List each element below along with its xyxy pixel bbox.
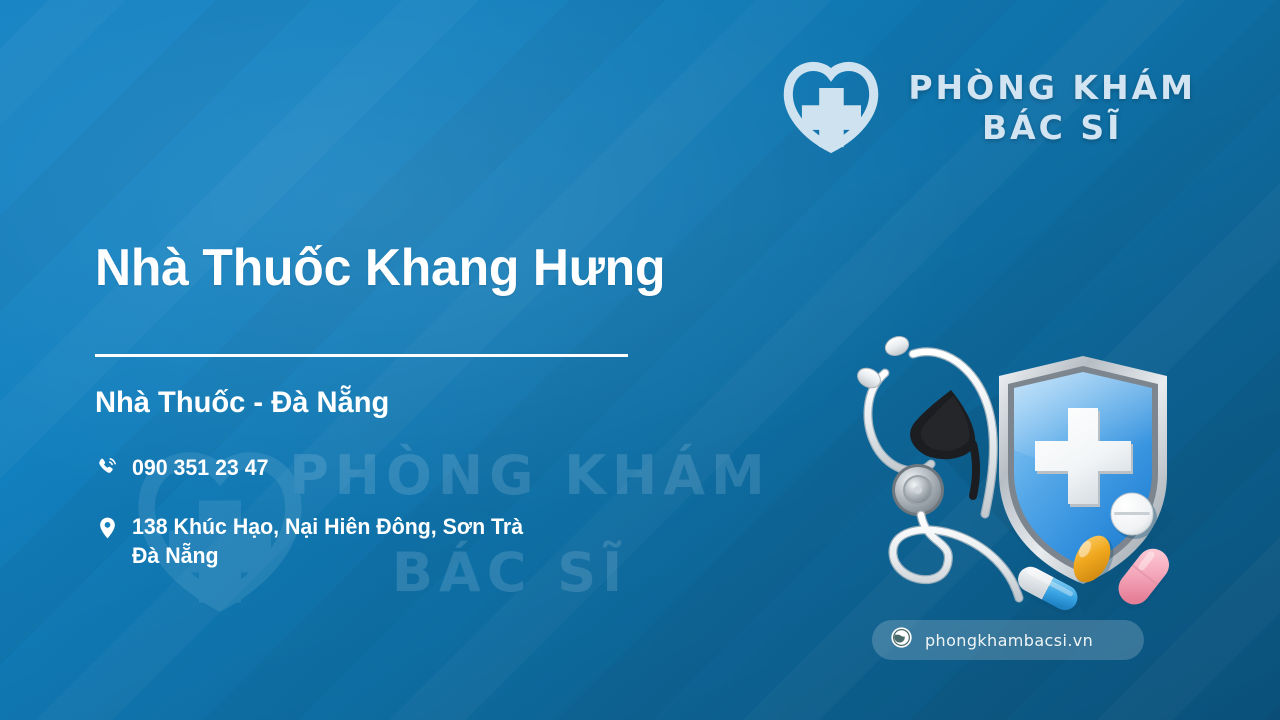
page-subtitle: Nhà Thuốc - Đà Nẵng bbox=[95, 386, 389, 420]
medical-cross-heart-icon bbox=[776, 58, 886, 158]
phone-row: 090 351 23 47 bbox=[96, 453, 273, 482]
address-row: 138 Khúc Hạo, Nại Hiên Đông, Sơn Trà Đà … bbox=[96, 512, 535, 571]
brand-line-2: BÁC SĨ bbox=[908, 108, 1196, 148]
brand-text: PHÒNG KHÁM BÁC SĨ bbox=[908, 68, 1196, 149]
website-url: phongkhambacsi.vn bbox=[925, 631, 1093, 650]
page-title: Nhà Thuốc Khang Hưng bbox=[95, 238, 665, 298]
phone-icon bbox=[96, 453, 118, 478]
medical-shield-stethoscope-pills-illustration bbox=[835, 318, 1195, 628]
address-text: 138 Khúc Hạo, Nại Hiên Đông, Sơn Trà Đà … bbox=[132, 512, 523, 571]
phone-number: 090 351 23 47 bbox=[132, 453, 268, 482]
title-divider bbox=[95, 354, 628, 357]
brand-logo: PHÒNG KHÁM BÁC SĨ bbox=[776, 58, 1196, 158]
brand-line-1: PHÒNG KHÁM bbox=[908, 68, 1196, 108]
globe-icon bbox=[890, 626, 913, 654]
location-pin-icon bbox=[96, 512, 118, 539]
